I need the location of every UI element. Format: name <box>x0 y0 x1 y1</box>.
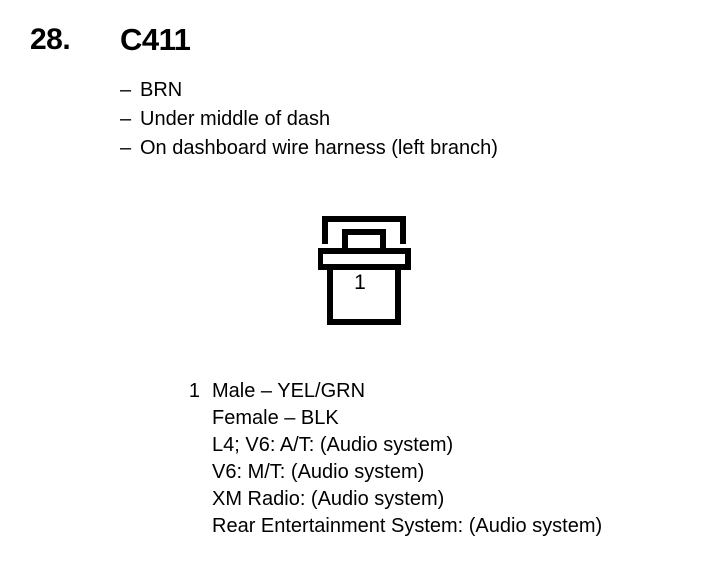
legend-row: 1 Male – YEL/GRN Female – BLK L4; V6: A/… <box>176 378 676 540</box>
connector-flange <box>320 251 408 267</box>
dash-marker: – <box>120 105 140 134</box>
legend-line-group: Male – YEL/GRN Female – BLK L4; V6: A/T:… <box>200 378 602 540</box>
description-line: –On dashboard wire harness (left branch) <box>120 134 680 163</box>
cavity-number-label: 1 <box>318 272 402 293</box>
legend-pin-number: 1 <box>176 378 200 405</box>
connector-symbol: 1 <box>318 216 414 328</box>
legend-line: V6: M/T: (Audio system) <box>212 459 602 486</box>
legend-line: Female – BLK <box>212 405 602 432</box>
dash-marker: – <box>120 76 140 105</box>
description-text: On dashboard wire harness (left branch) <box>140 137 498 159</box>
connector-id-title: C411 <box>120 22 190 58</box>
dash-marker: – <box>120 134 140 163</box>
pin-legend: 1 Male – YEL/GRN Female – BLK L4; V6: A/… <box>176 378 676 540</box>
entry-header: 28. C411 <box>0 22 704 62</box>
legend-line: Male – YEL/GRN <box>212 378 602 405</box>
legend-line: L4; V6: A/T: (Audio system) <box>212 432 602 459</box>
description-list: –BRN –Under middle of dash –On dashboard… <box>120 76 680 163</box>
description-text: BRN <box>140 79 182 101</box>
legend-line: Rear Entertainment System: (Audio system… <box>212 513 602 540</box>
entry-number: 28. <box>30 22 70 58</box>
legend-line: XM Radio: (Audio system) <box>212 486 602 513</box>
description-line: –BRN <box>120 76 680 105</box>
description-text: Under middle of dash <box>140 108 330 130</box>
description-line: –Under middle of dash <box>120 105 680 134</box>
